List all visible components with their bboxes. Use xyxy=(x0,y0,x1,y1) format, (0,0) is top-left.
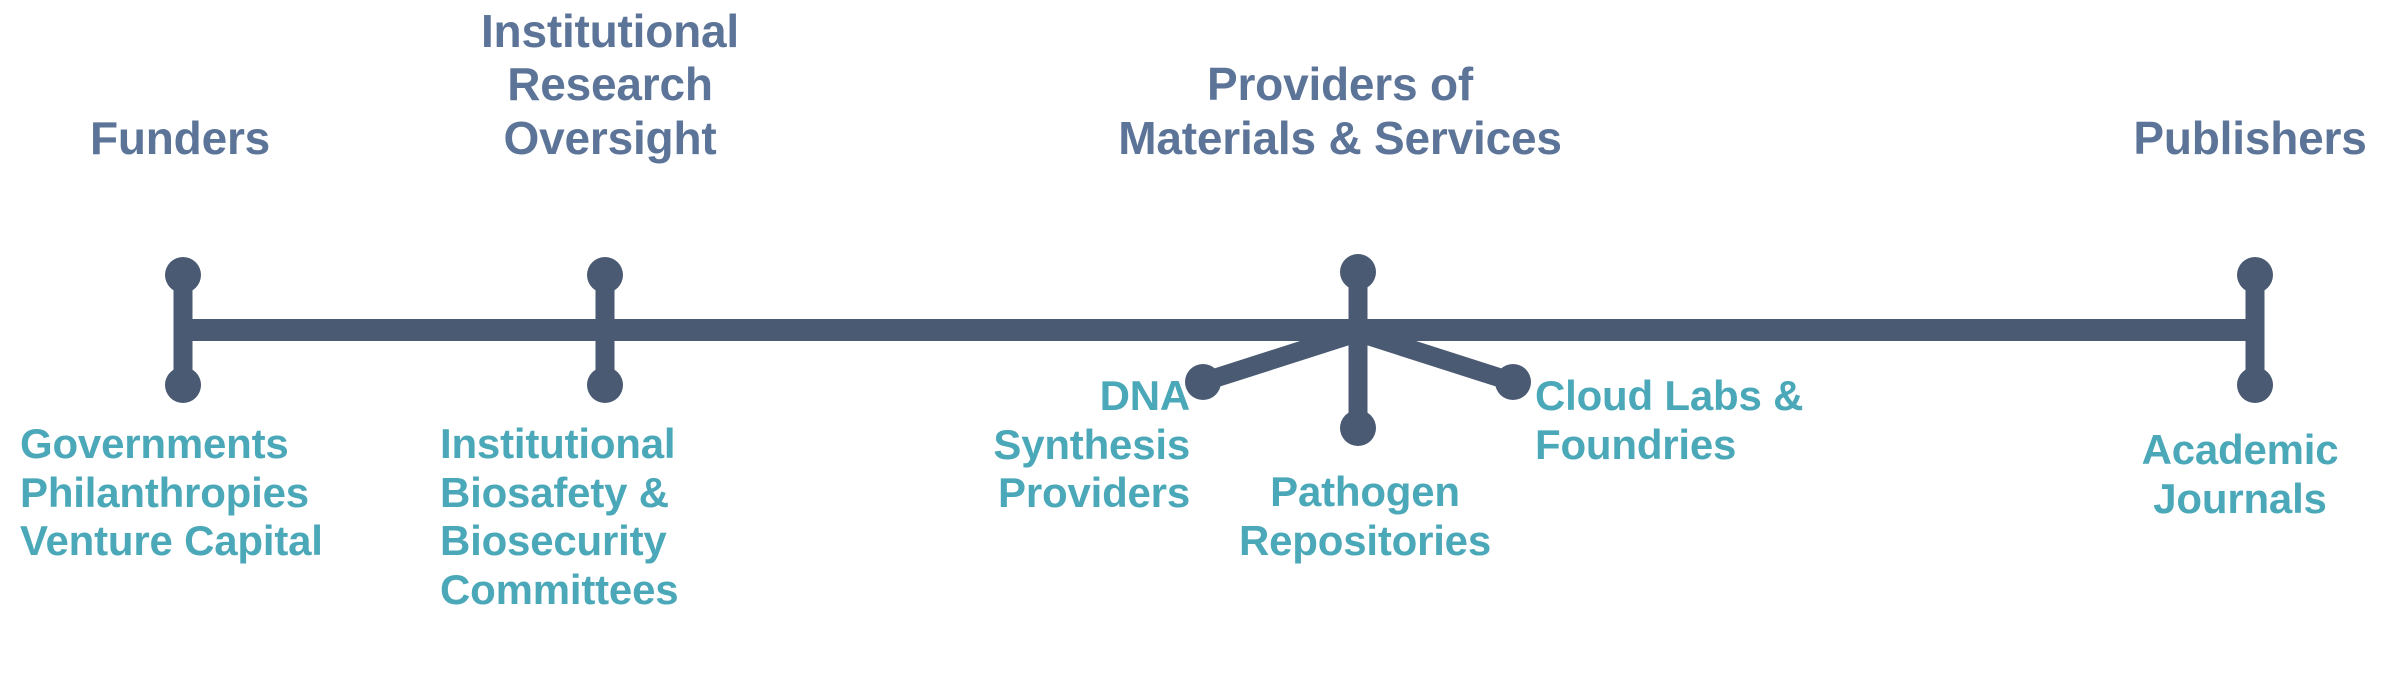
diagram-canvas: Funders Institutional Research Oversight… xyxy=(0,0,2400,681)
funders-top-dot xyxy=(165,257,201,293)
providers-top-dot xyxy=(1340,254,1376,290)
heading-institutional-research-oversight: Institutional Research Oversight xyxy=(420,5,800,165)
providers-left-arm xyxy=(1203,334,1353,382)
funders-bottom-dot xyxy=(165,367,201,403)
oversight-top-dot xyxy=(587,257,623,293)
providers-right-arm-dot xyxy=(1495,364,1531,400)
node-providers-marker xyxy=(1185,254,1531,446)
sublabel-funders: Governments Philanthropies Venture Capit… xyxy=(20,420,360,566)
sublabel-cloud-labs-and-foundries: Cloud Labs & Foundries xyxy=(1535,372,1865,469)
oversight-bottom-dot xyxy=(587,367,623,403)
providers-left-arm-dot xyxy=(1185,364,1221,400)
sublabel-academic-journals: Academic Journals xyxy=(2080,426,2400,523)
heading-providers-of-materials-and-services: Providers of Materials & Services xyxy=(1060,58,1620,165)
sublabel-institutional-committees: Institutional Biosafety & Biosecurity Co… xyxy=(440,420,770,615)
publishers-bottom-dot xyxy=(2237,367,2273,403)
providers-bottom-dot xyxy=(1340,410,1376,446)
heading-publishers: Publishers xyxy=(2090,112,2400,165)
sublabel-dna-synthesis-providers: DNA Synthesis Providers xyxy=(930,372,1190,518)
sublabel-pathogen-repositories: Pathogen Repositories xyxy=(1210,468,1520,565)
providers-right-arm xyxy=(1363,334,1513,382)
heading-funders: Funders xyxy=(20,112,340,165)
publishers-top-dot xyxy=(2237,257,2273,293)
